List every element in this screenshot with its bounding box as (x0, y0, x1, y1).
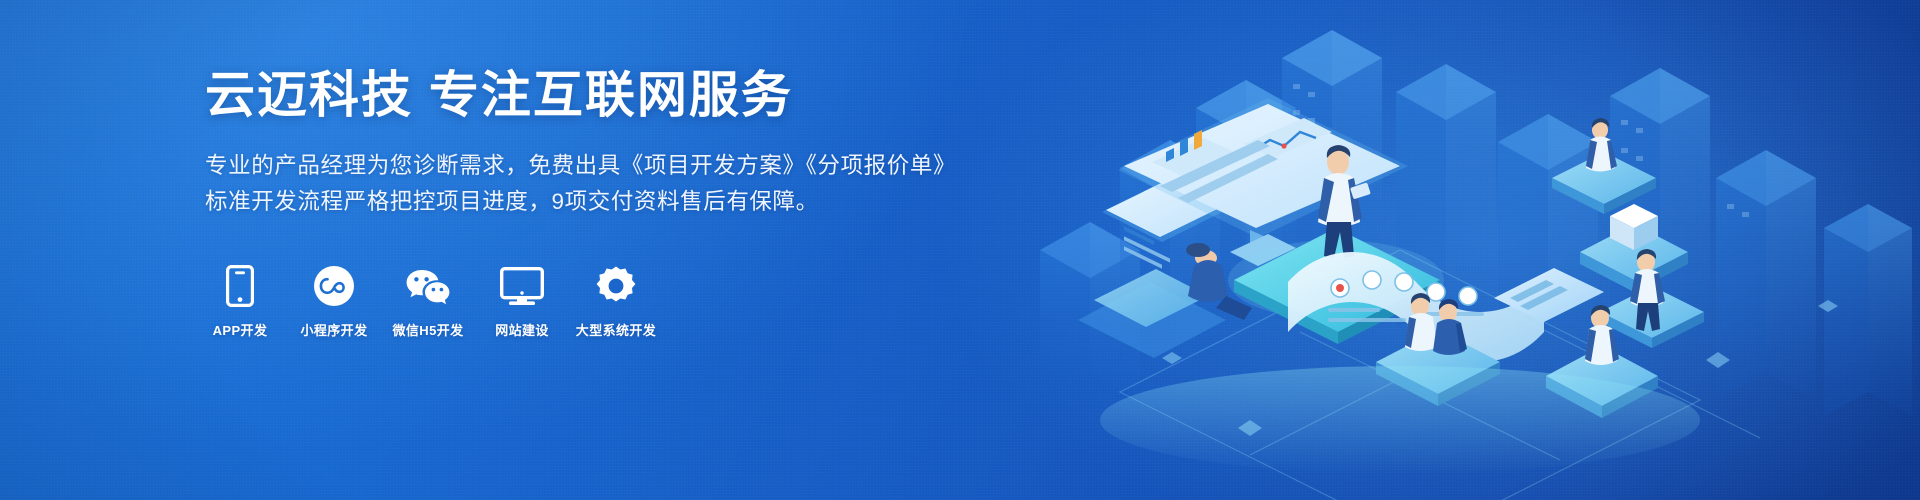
banner-content: 云迈科技 专注互联网服务 专业的产品经理为您诊断需求，免费出具《项目开发方案》《… (205, 66, 925, 339)
mini-program-icon (313, 263, 355, 307)
service-label: APP开发 (213, 320, 268, 339)
mobile-phone-icon (226, 263, 254, 307)
subtitle-line-1: 专业的产品经理为您诊断需求，免费出具《项目开发方案》《分项报价单》 (205, 148, 925, 184)
promo-banner: 云迈科技 专注互联网服务 专业的产品经理为您诊断需求，免费出具《项目开发方案》《… (0, 0, 1920, 500)
service-label: 微信H5开发 (392, 320, 463, 339)
isometric-illustration (1000, 0, 1920, 500)
service-label: 大型系统开发 (576, 320, 656, 339)
service-label: 网站建设 (495, 320, 549, 339)
service-item-website[interactable]: 网站建设 (487, 263, 557, 339)
service-item-wechat[interactable]: 微信H5开发 (393, 263, 463, 339)
subtitle: 专业的产品经理为您诊断需求，免费出具《项目开发方案》《分项报价单》 标准开发流程… (205, 148, 925, 221)
service-item-system[interactable]: 大型系统开发 (581, 263, 651, 339)
headline: 云迈科技 专注互联网服务 (205, 66, 925, 124)
gear-icon (595, 263, 637, 307)
service-item-app[interactable]: APP开发 (205, 263, 275, 339)
wechat-icon (405, 263, 451, 307)
service-list: APP开发 小程序开发 (205, 263, 925, 339)
service-item-miniprogram[interactable]: 小程序开发 (299, 263, 369, 339)
service-label: 小程序开发 (300, 320, 367, 339)
subtitle-line-2: 标准开发流程严格把控项目进度，9项交付资料售后有保障。 (205, 184, 925, 220)
monitor-icon (500, 263, 544, 307)
